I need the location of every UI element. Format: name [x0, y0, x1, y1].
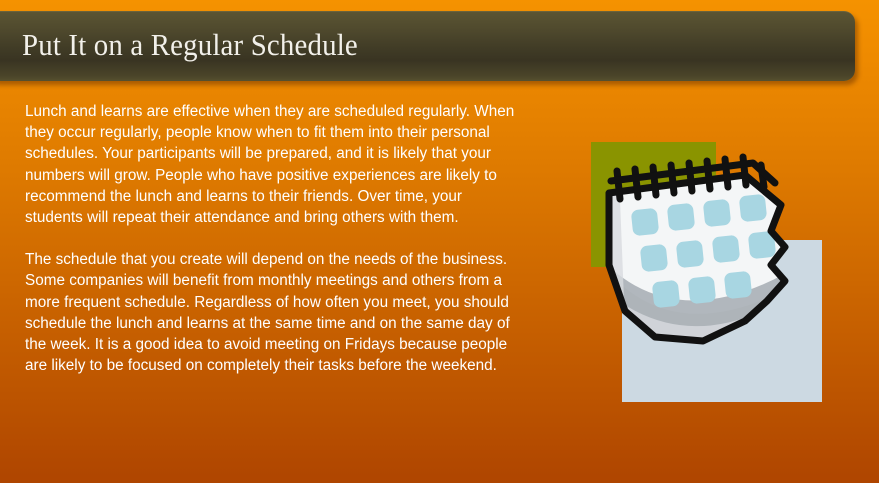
date-cell: [703, 199, 732, 228]
date-cell: [712, 235, 741, 264]
slide-body-text: Lunch and learns are effective when they…: [25, 101, 520, 376]
slide-title-bar: Put It on a Regular Schedule: [0, 11, 855, 81]
date-cell: [676, 240, 705, 269]
date-cell: [739, 194, 768, 223]
date-cell: [688, 276, 717, 305]
date-cell: [640, 244, 669, 273]
date-cell: [631, 208, 660, 237]
presentation-slide: Put It on a Regular Schedule Lunch and l…: [0, 0, 879, 483]
date-cell: [724, 271, 753, 300]
body-paragraph-2: The schedule that you create will depend…: [25, 249, 520, 376]
date-cell: [667, 203, 696, 232]
date-cell: [652, 280, 681, 309]
page-title: Put It on a Regular Schedule: [22, 25, 358, 65]
calendar-illustration: [585, 135, 835, 410]
body-paragraph-1: Lunch and learns are effective when they…: [25, 101, 520, 228]
calendar-icon: [585, 135, 835, 410]
